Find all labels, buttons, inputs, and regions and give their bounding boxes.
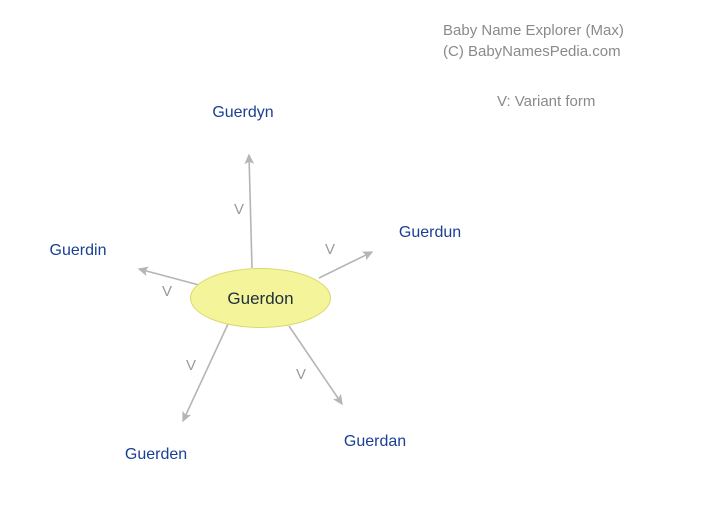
edge-label-guerdin: V	[162, 284, 172, 300]
node-guerdyn[interactable]: Guerdyn	[212, 104, 273, 122]
edge-label-guerdun: V	[325, 242, 335, 258]
edge-layer	[0, 0, 720, 508]
edge-label-guerdan: V	[296, 367, 306, 383]
center-node-label: Guerdon	[227, 289, 293, 308]
node-guerdan[interactable]: Guerdan	[344, 433, 406, 451]
node-guerdun[interactable]: Guerdun	[399, 224, 461, 242]
edge-guerdon-guerdyn	[249, 155, 252, 268]
edge-guerdon-guerdan	[289, 326, 342, 404]
center-node-guerdon[interactable]: Guerdon	[190, 268, 331, 328]
edge-label-guerden: V	[186, 358, 196, 374]
node-guerden[interactable]: Guerden	[125, 446, 187, 464]
baby-name-explorer-graph: Baby Name Explorer (Max) (C) BabyNamesPe…	[0, 0, 720, 508]
edge-label-guerdyn: V	[234, 202, 244, 218]
node-guerdin[interactable]: Guerdin	[50, 242, 107, 260]
